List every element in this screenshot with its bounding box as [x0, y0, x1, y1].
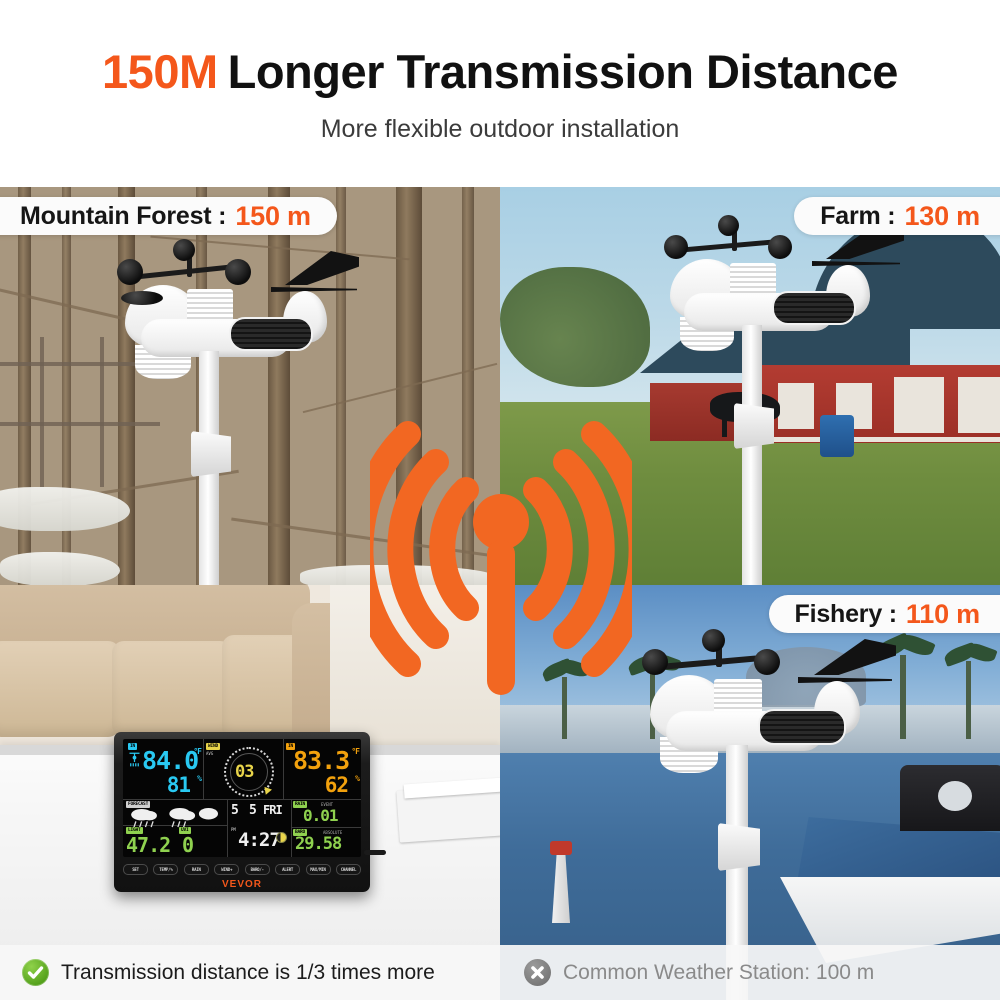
footer-advantage: Transmission distance is 1/3 times more [0, 945, 500, 1000]
indoor-temp: 84.0 [142, 748, 198, 773]
button-alert[interactable]: ALERT [275, 864, 300, 875]
indoor-label: IN [128, 743, 137, 750]
console-antenna [364, 850, 386, 855]
weather-console: IN 84.0 °F 81 % WIND AVG [114, 732, 370, 892]
x-circle-icon [524, 959, 551, 986]
headline-accent: 150M [102, 45, 218, 98]
header: 150MLonger Transmission Distance More fl… [0, 0, 1000, 187]
weather-sensor-unit [640, 213, 910, 585]
badge-label: Farm : [820, 202, 895, 231]
anemometer-cup [173, 239, 195, 261]
button-channel[interactable]: CHANNEL [336, 864, 361, 875]
scene-grid: Mountain Forest : 150 m [0, 187, 1000, 1000]
indoor-humidity-unit: % [197, 775, 201, 783]
indoor-humidity: 81 [167, 775, 190, 796]
button-set[interactable]: SET [123, 864, 148, 875]
outdoor-humidity: 62 [325, 775, 348, 796]
light-value: 47.2 [126, 835, 170, 855]
page-title: 150MLonger Transmission Distance [0, 44, 1000, 99]
page-subtitle: More flexible outdoor installation [0, 115, 1000, 144]
rain-value: 0.01 [303, 808, 338, 824]
date-weekday: FRI [263, 804, 282, 816]
outdoor-humidity-unit: % [355, 775, 359, 783]
indoor-antenna-icon [128, 752, 141, 767]
outdoor-temp: 83.3 [293, 748, 349, 773]
badge-value: 130 m [904, 201, 980, 232]
badge-farm: Farm : 130 m [794, 197, 1000, 235]
forecast-icons [128, 808, 224, 829]
wind-speed-value: 03 [235, 764, 253, 781]
forecast-label: FORECAST [126, 801, 150, 808]
vevor-logo: VEVOR [114, 879, 370, 890]
badge-fishery: Fishery : 110 m [769, 595, 1000, 633]
check-circle-icon [22, 959, 49, 986]
footer-comparison: Common Weather Station: 100 m [500, 945, 1000, 1000]
uvi-value: 0 [182, 835, 193, 855]
badge-mountain-forest: Mountain Forest : 150 m [0, 197, 337, 235]
anemometer-cup [225, 259, 251, 285]
console-screen: IN 84.0 °F 81 % WIND AVG [123, 739, 361, 857]
headline-rest: Longer Transmission Distance [228, 45, 898, 98]
footer-comparison-text: Common Weather Station: 100 m [563, 961, 874, 985]
baro-value: 29.58 [295, 836, 341, 853]
solar-panel [229, 317, 313, 351]
button-rain[interactable]: RAIN [184, 864, 209, 875]
button-temp[interactable]: TEMP/% [153, 864, 178, 875]
indoor-temp-unit: °F [193, 748, 201, 756]
anemometer-cup [117, 259, 143, 285]
clock-meridiem: PM [231, 827, 236, 832]
weather-sensor-unit [95, 233, 365, 585]
button-baro[interactable]: BARO/- [245, 864, 270, 875]
wind-sub: AVG [206, 751, 213, 756]
footer-advantage-text: Transmission distance is 1/3 times more [61, 961, 435, 985]
date-day: 5 [249, 804, 256, 817]
moon-phase-icon [276, 832, 287, 843]
broadcast-antenna-icon [370, 412, 632, 704]
wind-label: WIND [206, 743, 220, 750]
pole-bracket [191, 431, 231, 477]
product-infographic: 150MLonger Transmission Distance More fl… [0, 0, 1000, 1000]
clock-time: 4:27 [238, 831, 280, 850]
button-maxmin[interactable]: MAX/MIN [306, 864, 331, 875]
wind-direction-pointer [262, 787, 272, 796]
button-wind[interactable]: WIND+ [214, 864, 239, 875]
badge-label: Mountain Forest : [20, 202, 226, 231]
console-button-row: SET TEMP/% RAIN WIND+ BARO/- ALERT MAX/M… [123, 862, 361, 876]
badge-value: 150 m [235, 201, 311, 232]
badge-value: 110 m [906, 599, 980, 630]
wind-vane [285, 251, 359, 285]
badge-label: Fishery : [795, 600, 897, 629]
outdoor-temp-unit: °F [351, 748, 359, 756]
date-month: 5 [231, 804, 238, 817]
